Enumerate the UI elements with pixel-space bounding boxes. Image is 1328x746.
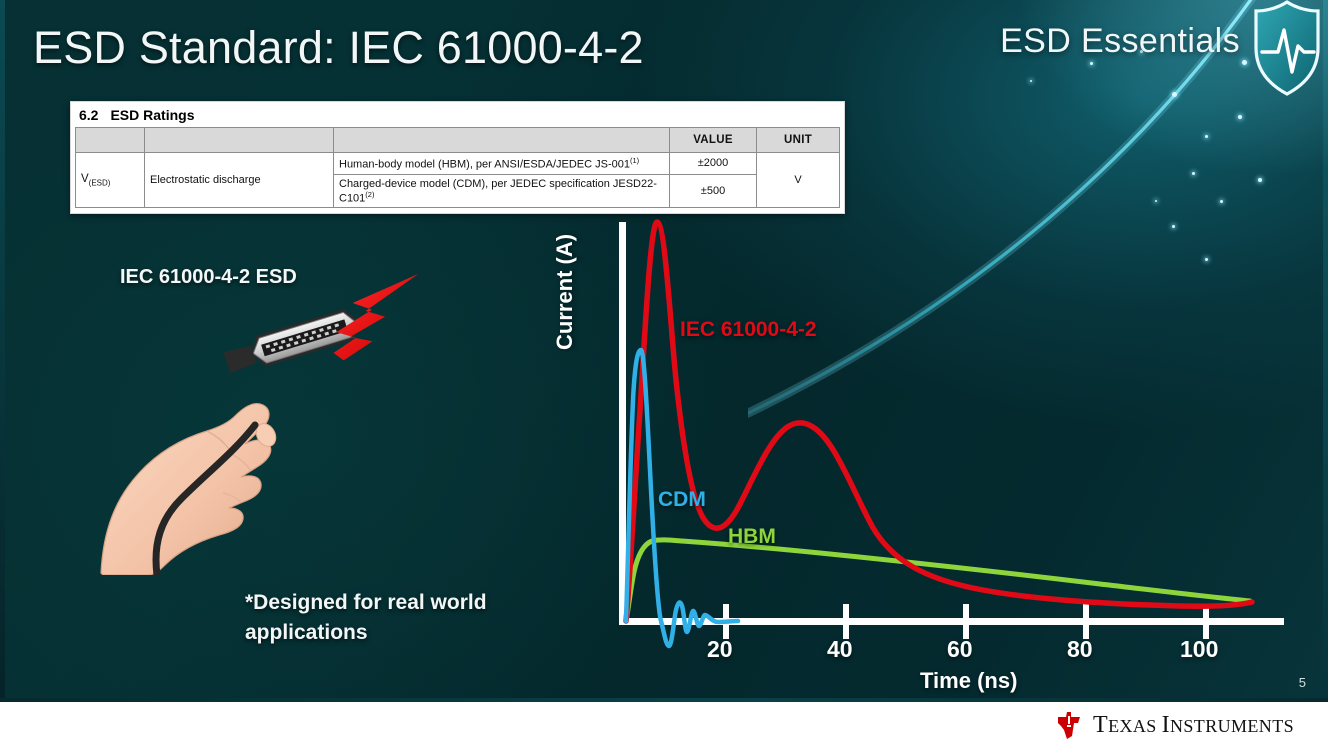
footer-bar: TEXAS INSTRUMENTS bbox=[0, 702, 1328, 746]
cell-description-hbm: Human-body model (HBM), per ANSI/ESDA/JE… bbox=[334, 153, 670, 175]
sparkle bbox=[1192, 172, 1195, 175]
table-section-title: ESD Ratings bbox=[110, 107, 194, 123]
header-description bbox=[334, 128, 670, 153]
chart-axes bbox=[619, 222, 1284, 639]
cell-value-hbm: ±2000 bbox=[670, 153, 757, 175]
series-label-hbm: HBM bbox=[728, 525, 776, 549]
x-tick-60: 60 bbox=[947, 636, 973, 663]
sparkle bbox=[1090, 62, 1093, 65]
series-label-iec: IEC 61000-4-2 bbox=[680, 318, 817, 342]
desc-text-hbm: Human-body model (HBM), per ANSI/ESDA/JE… bbox=[339, 159, 630, 171]
series-iec-curve bbox=[626, 222, 1252, 621]
hdmi-connector-icon bbox=[222, 306, 363, 377]
table-header-row: VALUE UNIT bbox=[76, 128, 840, 153]
slide-edge-right bbox=[1323, 0, 1328, 702]
x-tick-100: 100 bbox=[1180, 636, 1218, 663]
header-symbol bbox=[76, 128, 145, 153]
header-parameter bbox=[145, 128, 334, 153]
footnote-2: (2) bbox=[365, 190, 374, 199]
table-row: V(ESD) Electrostatic discharge Human-bod… bbox=[76, 153, 840, 175]
x-tick-40: 40 bbox=[827, 636, 853, 663]
sparkle bbox=[1242, 60, 1247, 65]
design-note: *Designed for real world applications bbox=[245, 588, 575, 649]
x-tick-20: 20 bbox=[707, 636, 733, 663]
texas-instruments-logo: TEXAS INSTRUMENTS bbox=[1054, 710, 1294, 740]
esd-ratings-table-card: 6.2ESD Ratings VALUE UNIT V(ESD) Electro… bbox=[70, 101, 845, 214]
ti-texas-logo-icon bbox=[1054, 710, 1084, 740]
sparkle bbox=[1238, 115, 1242, 119]
slide: ESD Standard: IEC 61000-4-2 ESD Essentia… bbox=[0, 0, 1328, 702]
ti-i: I bbox=[1162, 712, 1170, 738]
page-title: ESD Standard: IEC 61000-4-2 bbox=[33, 22, 644, 74]
table-section-number: 6.2 bbox=[79, 107, 98, 123]
cell-parameter: Electrostatic discharge bbox=[145, 153, 334, 208]
header-value: VALUE bbox=[670, 128, 757, 153]
esd-ratings-table: VALUE UNIT V(ESD) Electrostatic discharg… bbox=[75, 127, 840, 208]
x-axis-label: Time (ns) bbox=[920, 668, 1017, 694]
symbol-text: V bbox=[81, 173, 89, 185]
footnote-1: (1) bbox=[630, 156, 639, 165]
slide-number: 5 bbox=[1299, 675, 1306, 690]
hand-connector-illustration bbox=[95, 255, 440, 575]
cell-symbol: V(ESD) bbox=[76, 153, 145, 208]
series-label-cdm: CDM bbox=[658, 488, 706, 512]
header-unit: UNIT bbox=[757, 128, 840, 153]
ti-t: T bbox=[1093, 712, 1108, 738]
brand-label: ESD Essentials bbox=[1000, 22, 1240, 61]
slide-edge-left bbox=[0, 0, 5, 702]
esd-waveform-chart: Current (A) Time (ns) 20 40 6 bbox=[560, 200, 1320, 700]
sparkle bbox=[1030, 80, 1032, 82]
ti-wordmark: TEXAS INSTRUMENTS bbox=[1093, 712, 1294, 739]
x-tick-80: 80 bbox=[1067, 636, 1093, 663]
symbol-subscript: (ESD) bbox=[89, 178, 111, 187]
y-axis-label: Current (A) bbox=[552, 234, 578, 350]
ti-exas: EXAS bbox=[1108, 716, 1162, 736]
sparkle bbox=[1172, 92, 1177, 97]
ti-nstruments: NSTRUMENTS bbox=[1170, 716, 1294, 736]
table-heading: 6.2ESD Ratings bbox=[75, 105, 840, 127]
sparkle bbox=[1205, 135, 1208, 138]
chart-plot bbox=[560, 200, 1320, 700]
shield-pulse-icon bbox=[1248, 0, 1326, 100]
sparkle bbox=[1258, 178, 1262, 182]
